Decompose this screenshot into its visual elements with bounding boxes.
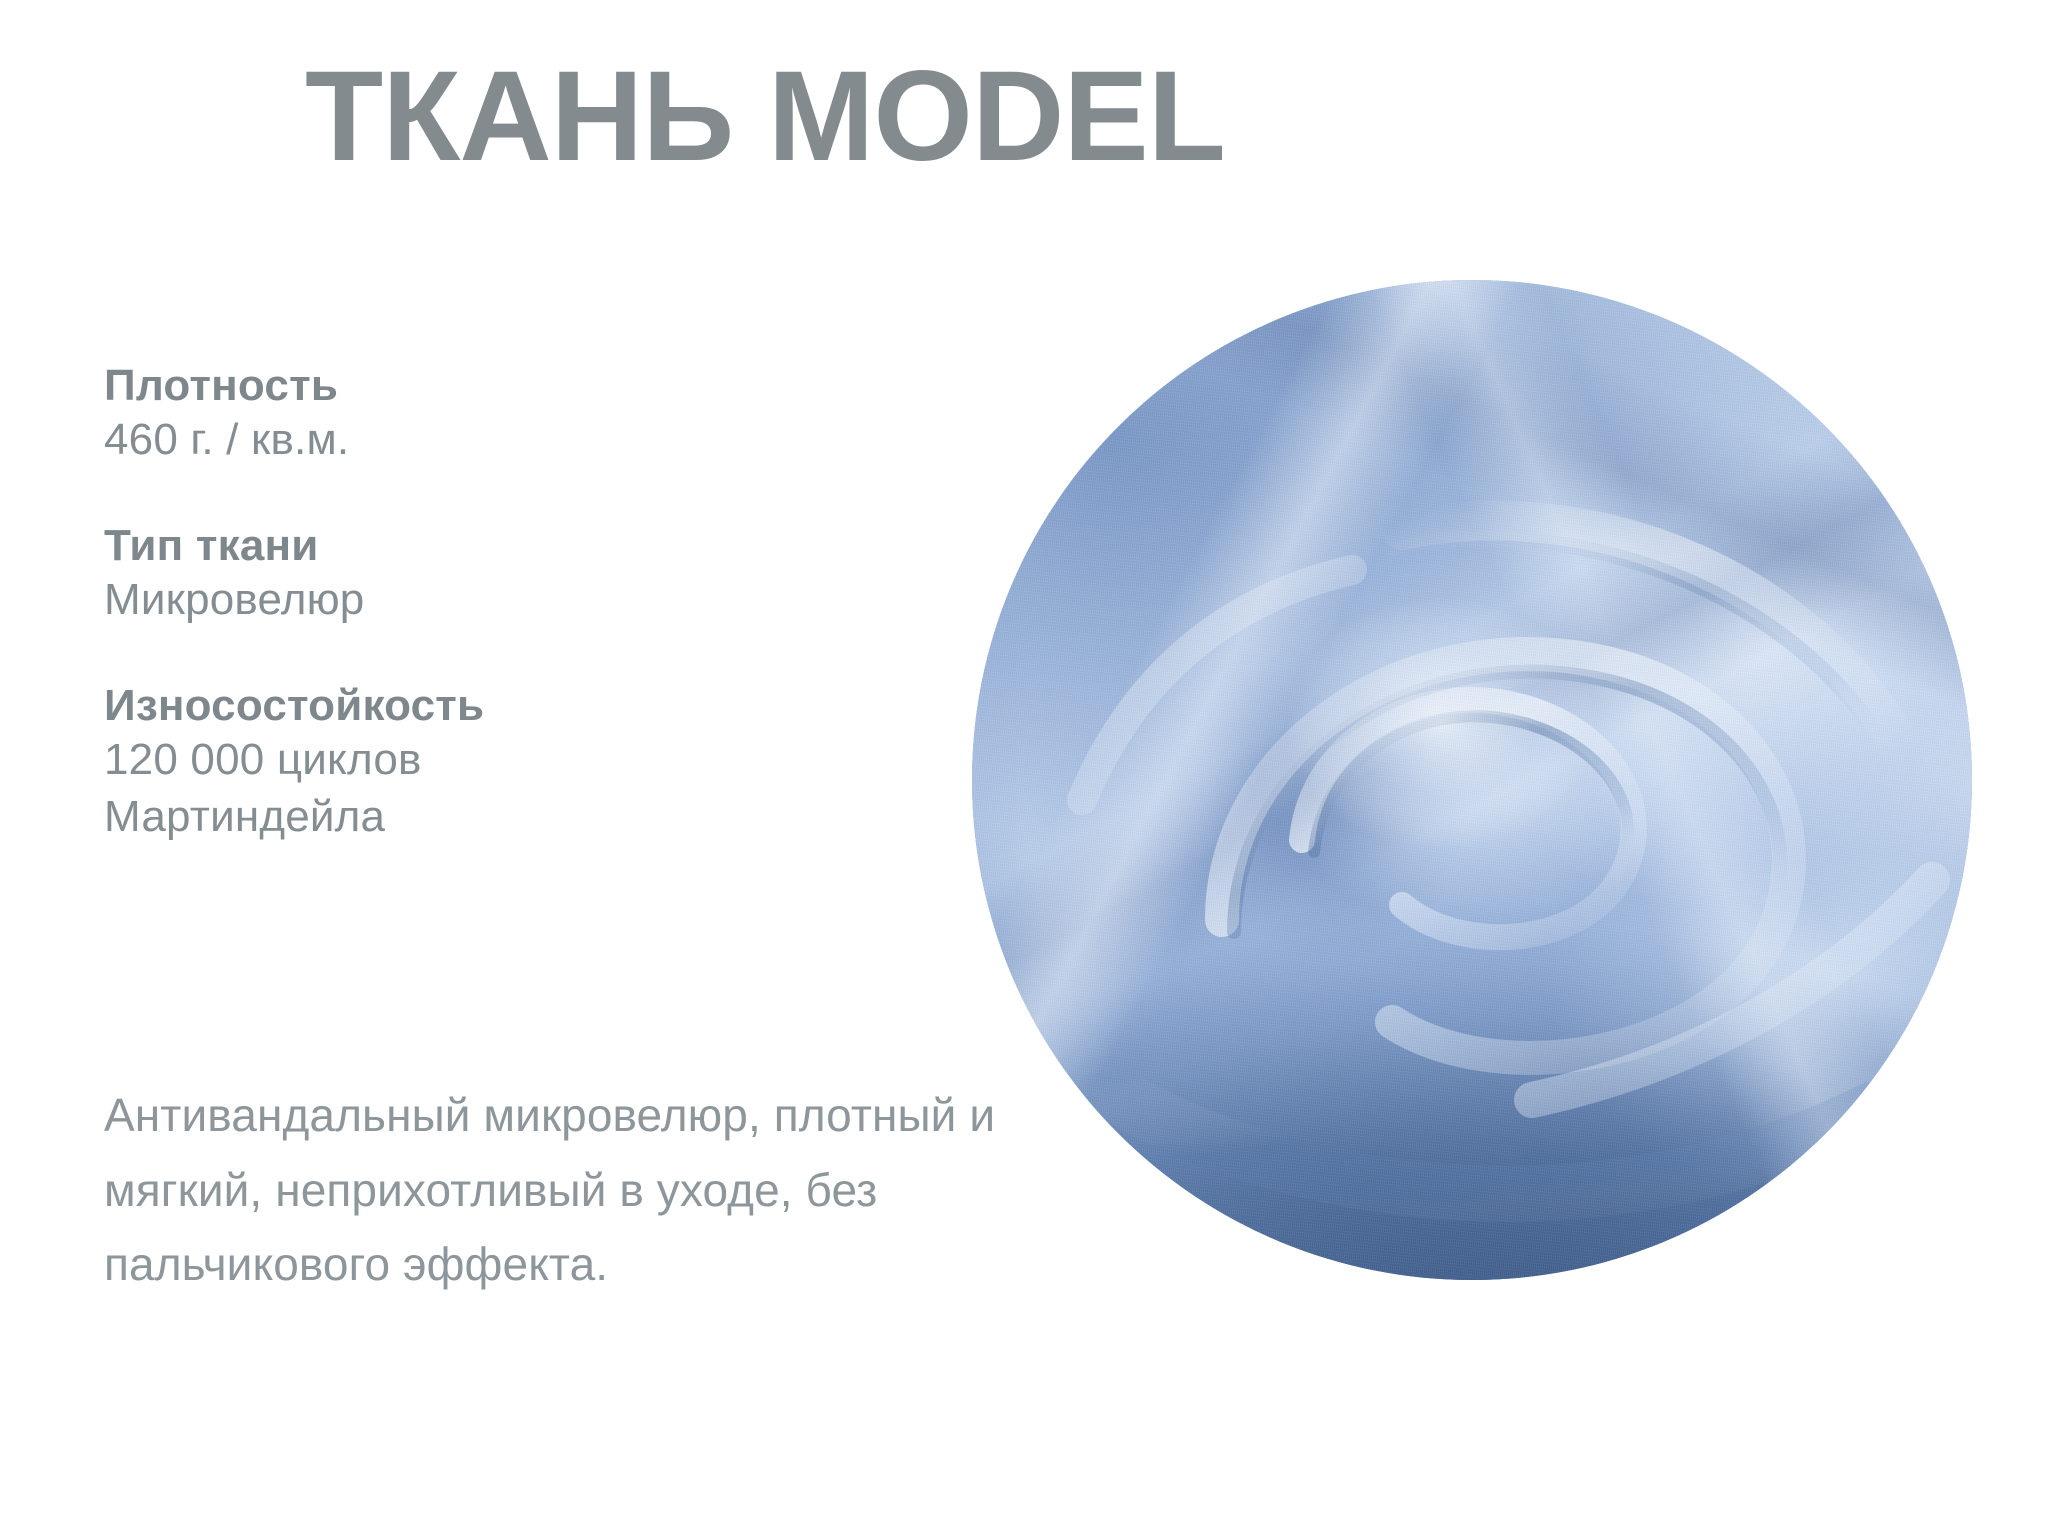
fabric-swatch-circle bbox=[972, 280, 1972, 1280]
spec-item-density: Плотность 460 г. / кв.м. bbox=[104, 360, 964, 468]
spec-list: Плотность 460 г. / кв.м. Тип ткани Микро… bbox=[104, 360, 964, 845]
spec-label-fabric-type: Тип ткани bbox=[104, 520, 964, 572]
spec-label-abrasion-resistance: Износостойкость bbox=[104, 680, 964, 732]
slide-root: ТКАНЬ MODEL Плотность 460 г. / кв.м. Тип… bbox=[0, 0, 2048, 1536]
spec-label-density: Плотность bbox=[104, 360, 964, 412]
spec-value-fabric-type: Микровелюр bbox=[104, 572, 964, 628]
page-title: ТКАНЬ MODEL bbox=[0, 48, 1530, 186]
spec-value-abrasion-resistance-line2: Мартиндейла bbox=[104, 789, 964, 845]
fabric-vignette bbox=[972, 280, 1972, 1280]
spec-value-abrasion-resistance-line1: 120 000 циклов bbox=[104, 732, 964, 788]
fabric-description: Антивандальный микровелюр, плотный и мяг… bbox=[104, 1078, 1024, 1302]
spec-item-abrasion-resistance: Износостойкость 120 000 циклов Мартиндей… bbox=[104, 680, 964, 845]
spec-value-density: 460 г. / кв.м. bbox=[104, 412, 964, 468]
spec-item-fabric-type: Тип ткани Микровелюр bbox=[104, 520, 964, 628]
